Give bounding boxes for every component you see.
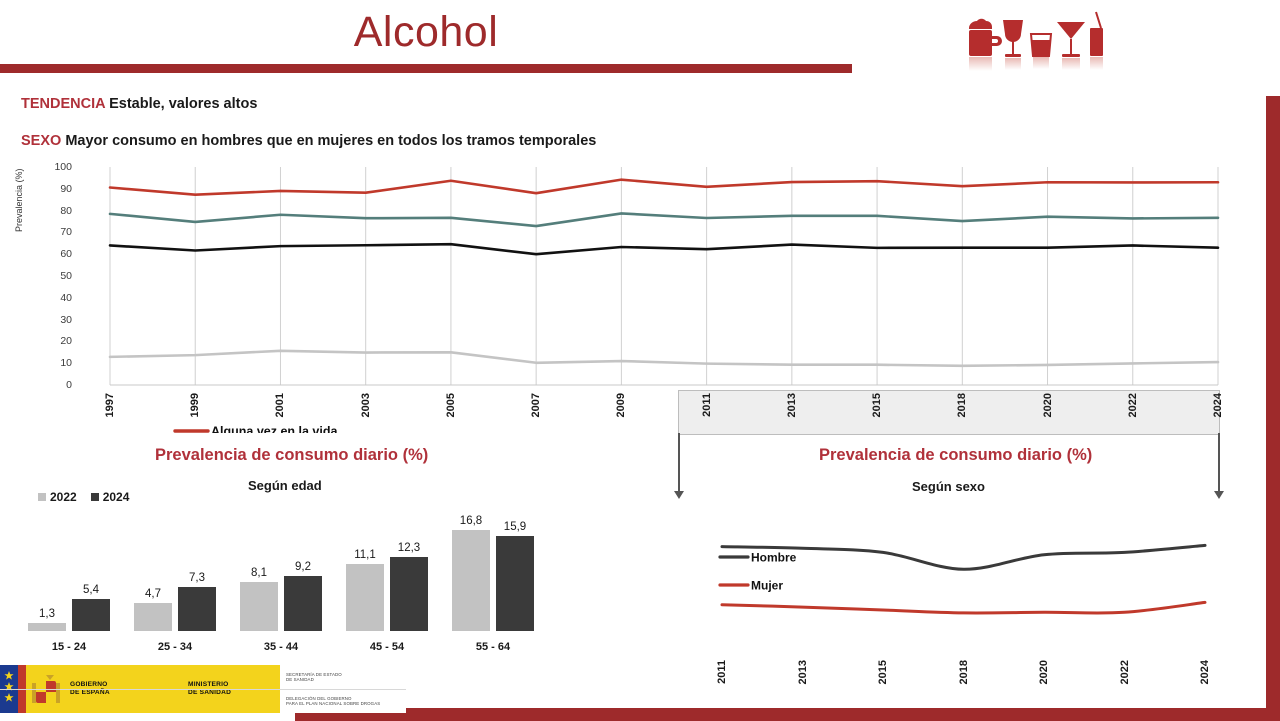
bar-value-25-34-2022: 4,7 [128, 588, 178, 600]
xtick-1999: 1999 [189, 393, 201, 417]
bullet-tendencia: TENDENCIA Estable, valores altos [21, 96, 257, 112]
bar-15-24-2024 [72, 599, 110, 631]
bar-55-64-2024 [496, 536, 534, 631]
edad-chart-title: Prevalencia de consumo diario (%) [155, 446, 428, 465]
xtick-2003: 2003 [360, 393, 372, 417]
bar-category-15-24: 15 - 24 [20, 641, 118, 653]
gobierno-line2: DE ESPAÑA [70, 689, 110, 697]
bullet-sexo-value: Mayor consumo en hombres que en mujeres … [65, 133, 596, 149]
bar-55-64-2022 [452, 530, 490, 631]
xtick-1997: 1997 [104, 393, 116, 417]
bar-45-54-2024 [390, 557, 428, 631]
bar-25-34-2024 [178, 587, 216, 631]
edad-bar-chart: 1,35,415 - 244,77,325 - 348,19,235 - 441… [0, 495, 560, 655]
delegacion-gobierno-pnd-logo: SECRETARÍA DE ESTADO DE SANIDAD DELEGACI… [280, 665, 406, 713]
svg-text:Mujer: Mujer [751, 579, 783, 593]
bar-value-15-24-2022: 1,3 [22, 608, 72, 620]
bar-45-54-2022 [346, 564, 384, 631]
bar-value-25-34-2024: 7,3 [172, 572, 222, 584]
xtick-2018: 2018 [956, 393, 968, 417]
bar-category-45-54: 45 - 54 [338, 641, 436, 653]
xtick-2013: 2013 [786, 393, 798, 417]
ministerio-line1: MINISTERIO [188, 681, 231, 689]
sexo-chart-title: Prevalencia de consumo diario (%) [819, 446, 1092, 465]
sexo-xtick-2020: 2020 [1038, 660, 1050, 684]
ministerio-line2: DE SANIDAD [188, 689, 231, 697]
alcoholic-drinks-icon [963, 6, 1108, 78]
bottom-accent-bar [295, 708, 1280, 721]
bar-value-45-54-2022: 11,1 [340, 549, 390, 561]
bar-value-45-54-2024: 12,3 [384, 542, 434, 554]
sexo-line-chart: HombreMujer [660, 495, 1230, 690]
xtick-2020: 2020 [1042, 393, 1054, 417]
xtick-2001: 2001 [274, 393, 286, 417]
xtick-2005: 2005 [445, 393, 457, 417]
bar-value-55-64-2022: 16,8 [446, 515, 496, 527]
bar-category-35-44: 35 - 44 [232, 641, 330, 653]
bar-value-35-44-2024: 9,2 [278, 561, 328, 573]
page-title: Alcohol [0, 8, 852, 57]
xtick-2009: 2009 [615, 393, 627, 417]
sexo-xtick-2011: 2011 [716, 660, 728, 684]
secretaria-line2: DE SANIDAD [286, 677, 406, 682]
bar-25-34-2022 [134, 603, 172, 631]
xtick-2011: 2011 [701, 393, 713, 417]
footer-logos: GOBIERNO DE ESPAÑA MINISTERIO DE SANIDAD… [0, 665, 406, 713]
range-arrow-line-1 [1218, 433, 1220, 493]
bar-category-55-64: 55 - 64 [444, 641, 542, 653]
xtick-2007: 2007 [530, 393, 542, 417]
bar-15-24-2022 [28, 623, 66, 631]
sexo-xtick-2015: 2015 [877, 660, 889, 684]
right-accent-bar [1266, 96, 1280, 721]
bar-category-25-34: 25 - 34 [126, 641, 224, 653]
sexo-chart-subtitle: Según sexo [912, 479, 985, 494]
bar-value-15-24-2024: 5,4 [66, 584, 116, 596]
bar-value-55-64-2024: 15,9 [490, 521, 540, 533]
bullet-sexo: SEXO Mayor consumo en hombres que en muj… [21, 133, 596, 149]
sexo-xtick-2013: 2013 [797, 660, 809, 684]
delegacion-line2: PARA EL PLAN NACIONAL SOBRE DROGAS [286, 701, 406, 706]
range-arrow-line-0 [678, 433, 680, 493]
bullet-tendencia-key: TENDENCIA [21, 96, 105, 112]
title-rule [0, 64, 852, 73]
bullet-sexo-key: SEXO [21, 133, 61, 149]
sexo-xtick-2024: 2024 [1199, 660, 1211, 684]
sexo-xtick-2022: 2022 [1119, 660, 1131, 684]
xtick-2022: 2022 [1127, 393, 1139, 417]
bullet-tendencia-value: Estable, valores altos [109, 96, 257, 112]
sexo-xtick-2018: 2018 [958, 660, 970, 684]
bar-35-44-2024 [284, 576, 322, 631]
svg-text:Hombre: Hombre [751, 551, 797, 565]
svg-text:Alguna vez en la vida: Alguna vez en la vida [211, 425, 338, 434]
footer-divider [0, 689, 406, 690]
xtick-2015: 2015 [871, 393, 883, 417]
gobierno-line1: GOBIERNO [70, 681, 110, 689]
bar-35-44-2022 [240, 582, 278, 631]
bar-value-35-44-2022: 8,1 [234, 567, 284, 579]
edad-chart-subtitle: Según edad [248, 478, 322, 493]
xtick-2024: 2024 [1212, 393, 1224, 417]
